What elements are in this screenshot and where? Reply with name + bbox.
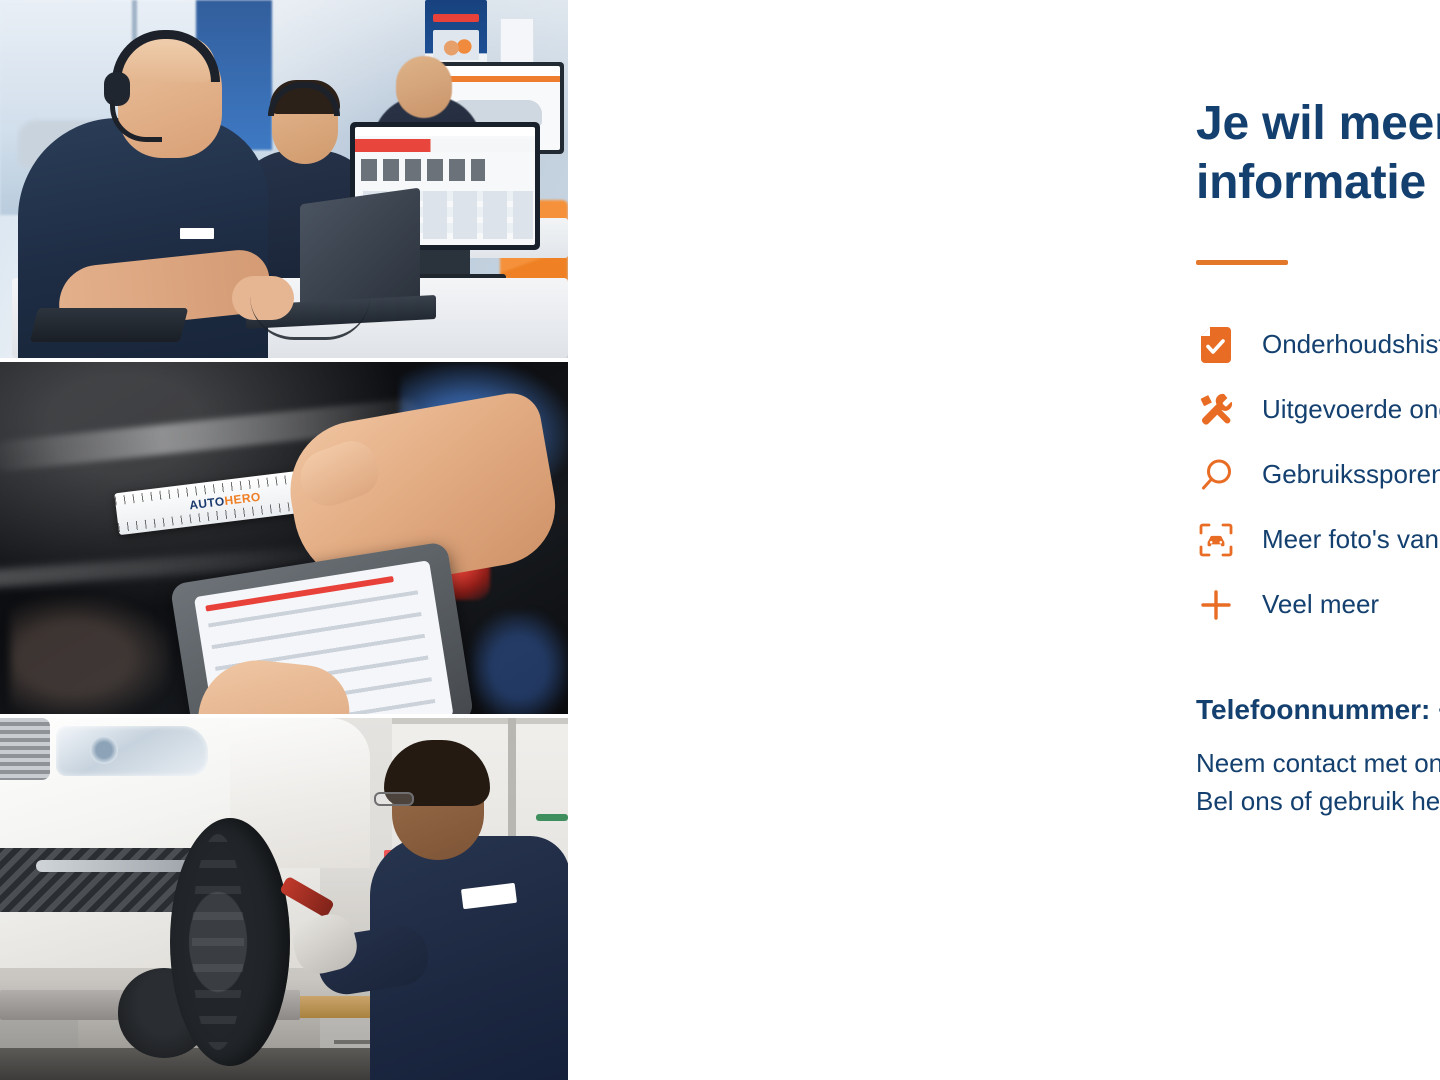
contact-text: Neem contact met ons op voor meer inform… — [1196, 744, 1440, 821]
page-title: Je wil meer informatie over: — [1196, 95, 1440, 212]
monitor-stand — [420, 250, 470, 276]
polo-logo-patch — [180, 228, 214, 239]
call-center-agents-photo — [0, 0, 568, 358]
plus-icon — [1194, 589, 1238, 621]
feature-label: Onderhoudshistorie — [1262, 330, 1440, 359]
feature-label: Meer foto's van de auto — [1262, 525, 1440, 554]
green-hose — [536, 814, 568, 821]
photo-column: AUTOHERO — [0, 0, 568, 1080]
phone-number[interactable]: Telefoonnummer: +31850003358 — [1196, 694, 1440, 726]
headline-line-1: Je wil meer — [1196, 95, 1440, 154]
content-column: Je wil meer informatie over: We geven je… — [568, 0, 1440, 1080]
agent-three-head — [396, 56, 452, 118]
promo-banner: AUTOHERO — [0, 0, 1440, 1080]
feature-label: Uitgevoerde onderhoudswerkzaamheden — [1262, 395, 1440, 424]
front-tire — [170, 818, 290, 1066]
car-grille — [0, 718, 50, 780]
technician-glasses — [374, 792, 414, 806]
car-headlight — [56, 726, 208, 776]
car-scan-icon — [1194, 523, 1238, 557]
feature-label: Gebruikssporen — [1262, 460, 1440, 489]
feature-item-gebruikssporen[interactable]: Gebruikssporen — [1194, 442, 1440, 507]
headline-line-2: informatie over: — [1196, 154, 1440, 213]
feature-item-veel-meer[interactable]: Veel meer — [1194, 572, 1440, 637]
wrench-screwdriver-icon — [1194, 392, 1238, 428]
feature-item-onderhoudshistorie[interactable]: Onderhoudshistorie — [1194, 312, 1440, 377]
workshop-technician-photo — [0, 718, 568, 1080]
desk-tablet — [30, 308, 188, 342]
feature-item-meer-fotos[interactable]: Meer foto's van de auto — [1194, 507, 1440, 572]
title-divider — [1196, 260, 1288, 265]
feature-list: Onderhoudshistorie Uitgevoerde onderhoud… — [1194, 312, 1440, 637]
contact-line-2: Bel ons of gebruik het contactformulier. — [1196, 782, 1440, 820]
feature-item-onderhoudswerkzaamheden[interactable]: Uitgevoerde onderhoudswerkzaamheden — [1194, 377, 1440, 442]
feature-label: Veel meer — [1262, 590, 1379, 619]
car-inspection-photo: AUTOHERO — [0, 362, 568, 714]
document-check-icon — [1194, 327, 1238, 363]
reflection-silhouette — [10, 598, 170, 714]
magnifier-icon — [1194, 458, 1238, 492]
contact-line-1: Neem contact met ons op voor meer inform… — [1196, 744, 1440, 782]
blue-reflection-lower — [470, 612, 568, 714]
